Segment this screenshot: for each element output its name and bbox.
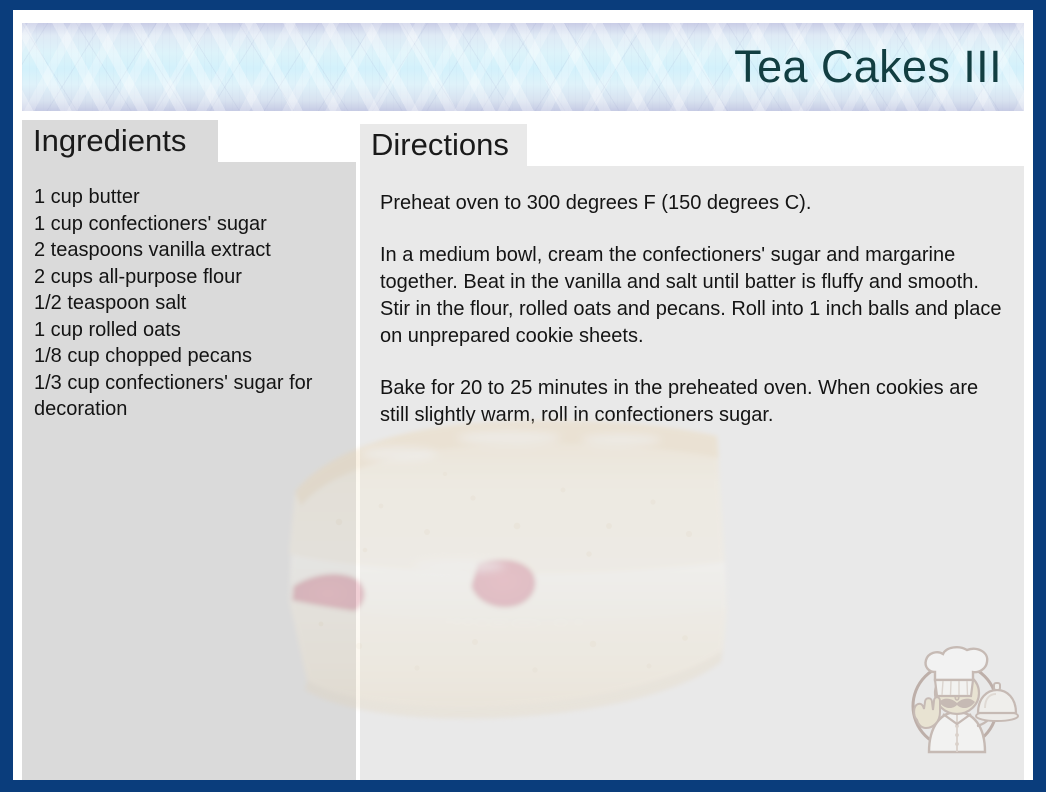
list-item: 1/2 teaspoon salt: [34, 290, 342, 317]
ingredients-panel: 1 cup butter 1 cup confectioners' sugar …: [22, 162, 356, 780]
directions-panel: Preheat oven to 300 degrees F (150 degre…: [360, 166, 1024, 780]
page-title: Tea Cakes III: [734, 41, 1002, 93]
direction-step: Preheat oven to 300 degrees F (150 degre…: [380, 190, 1008, 217]
ingredients-heading-tab: Ingredients: [22, 120, 218, 162]
list-item: 1/8 cup chopped pecans: [34, 343, 342, 370]
list-item: 1 cup rolled oats: [34, 317, 342, 344]
ingredients-heading-label: Ingredients: [33, 123, 186, 159]
directions-heading-label: Directions: [371, 127, 509, 163]
list-item: 1 cup butter: [34, 184, 342, 211]
direction-step: Bake for 20 to 25 minutes in the preheat…: [380, 375, 1008, 429]
recipe-card-inner: Tea Cakes III Ingredients Directions 1 c…: [13, 10, 1033, 780]
directions-heading-tab: Directions: [360, 124, 527, 166]
ingredients-list: 1 cup butter 1 cup confectioners' sugar …: [34, 184, 342, 423]
list-item: 2 cups all-purpose flour: [34, 264, 342, 291]
list-item: 1 cup confectioners' sugar: [34, 211, 342, 238]
direction-step: In a medium bowl, cream the confectioner…: [380, 242, 1008, 350]
list-item: 1/3 cup confectioners' sugar for decorat…: [34, 370, 342, 423]
recipe-card: Tea Cakes III Ingredients Directions 1 c…: [0, 0, 1046, 792]
list-item: 2 teaspoons vanilla extract: [34, 237, 342, 264]
header-banner: Tea Cakes III: [22, 23, 1024, 111]
